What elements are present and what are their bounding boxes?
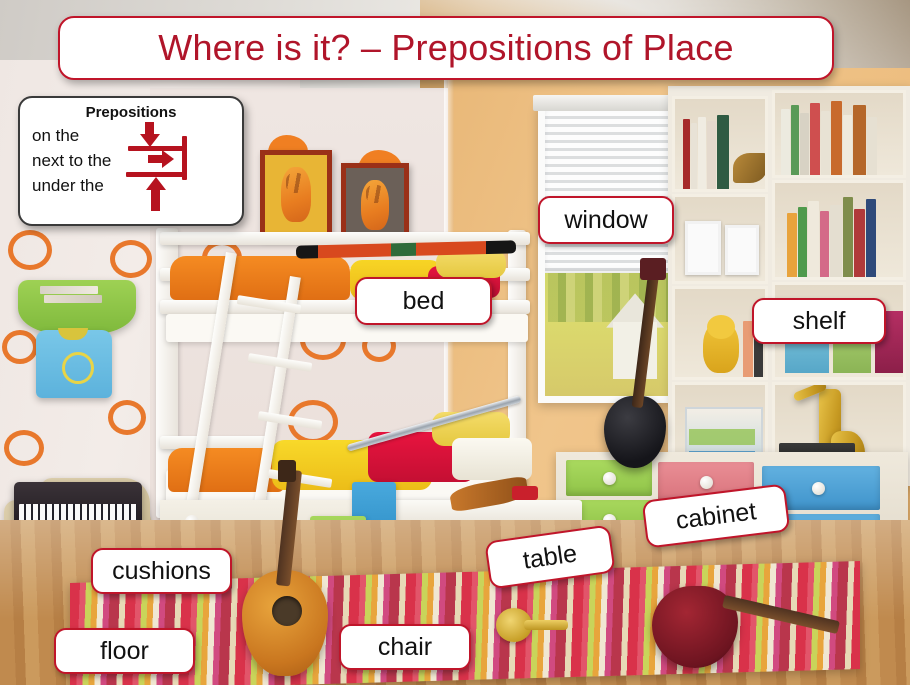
book — [691, 123, 697, 189]
flower-decal — [8, 230, 52, 270]
sheet-lower — [452, 438, 532, 480]
acoustic-guitar-soundhole — [272, 596, 302, 626]
book — [831, 101, 842, 175]
slide-title-box: Where is it? – Prepositions of Place — [58, 16, 834, 80]
shelf-compartment — [672, 194, 768, 284]
book — [810, 103, 820, 175]
book — [853, 105, 866, 175]
label-chair[interactable]: chair — [339, 624, 471, 670]
books-on-wall-shelf — [44, 295, 102, 303]
label-shelf-text: shelf — [793, 307, 846, 336]
right-arrow-to-vertical-line-icon — [148, 148, 204, 174]
acoustic-guitar-headstock — [278, 460, 296, 482]
label-window[interactable]: window — [538, 196, 674, 244]
up-arrow-under-line-icon — [126, 172, 188, 212]
prepositions-legend-box: Prepositions on the next to the under th… — [18, 96, 244, 226]
book — [698, 117, 706, 189]
label-cushions[interactable]: cushions — [91, 548, 232, 594]
wall-picture-tigger-left — [260, 150, 332, 238]
preposition-row-next-to: next to the — [32, 151, 111, 171]
label-floor-text: floor — [100, 637, 149, 666]
book — [843, 197, 853, 277]
preposition-row-on: on the — [32, 126, 79, 146]
label-bed[interactable]: bed — [355, 277, 492, 325]
bass-guitar-headstock — [640, 258, 666, 280]
decorative-object — [733, 153, 767, 183]
flower-decal — [2, 330, 38, 364]
book — [798, 207, 807, 277]
shelf-compartment — [772, 90, 906, 178]
teddy-bear-head — [707, 315, 735, 339]
flower-decal — [108, 400, 146, 435]
flower-decal — [4, 430, 44, 466]
label-chair-text: chair — [378, 633, 432, 662]
flower-decal — [110, 240, 152, 278]
label-table-text: table — [521, 539, 579, 575]
label-floor[interactable]: floor — [54, 628, 195, 674]
label-bed-text: bed — [403, 287, 445, 316]
tshirt-print — [62, 352, 94, 384]
basket-tray — [689, 429, 755, 445]
label-shelf[interactable]: shelf — [752, 298, 886, 344]
label-cushions-text: cushions — [112, 557, 211, 586]
book — [683, 119, 690, 189]
book — [820, 211, 829, 277]
shelf-compartment — [772, 180, 906, 280]
trumpet-tube — [524, 620, 568, 630]
toy-car — [512, 486, 538, 500]
book — [707, 121, 716, 189]
preposition-label-next-to: next to the — [32, 151, 111, 170]
books-on-wall-shelf — [40, 286, 98, 294]
shelf-compartment — [672, 96, 768, 192]
label-window-text: window — [564, 206, 647, 235]
preposition-label-under: under the — [32, 176, 104, 195]
bedding-orange-upper — [170, 256, 350, 300]
book — [787, 213, 797, 277]
book — [717, 115, 729, 189]
book — [781, 109, 790, 175]
page-title: Where is it? – Prepositions of Place — [158, 27, 733, 69]
book — [854, 209, 865, 277]
label-cabinet-text: cabinet — [674, 497, 758, 536]
book — [866, 199, 876, 277]
book — [830, 205, 842, 277]
drawer-knob — [603, 472, 616, 485]
drawer-knob — [812, 482, 825, 495]
book — [821, 111, 830, 175]
preposition-label-on: on the — [32, 126, 79, 145]
preposition-row-under: under the — [32, 176, 104, 196]
drawer-knob — [700, 476, 713, 489]
picture-frame — [685, 221, 721, 275]
picture-frame — [725, 225, 759, 275]
book — [800, 113, 809, 175]
book — [867, 117, 877, 175]
book — [808, 201, 819, 277]
book — [791, 105, 799, 175]
prepositions-heading: Prepositions — [20, 104, 242, 121]
slide-canvas: Where is it? – Prepositions of Place Pre… — [0, 0, 910, 685]
book — [843, 115, 852, 175]
